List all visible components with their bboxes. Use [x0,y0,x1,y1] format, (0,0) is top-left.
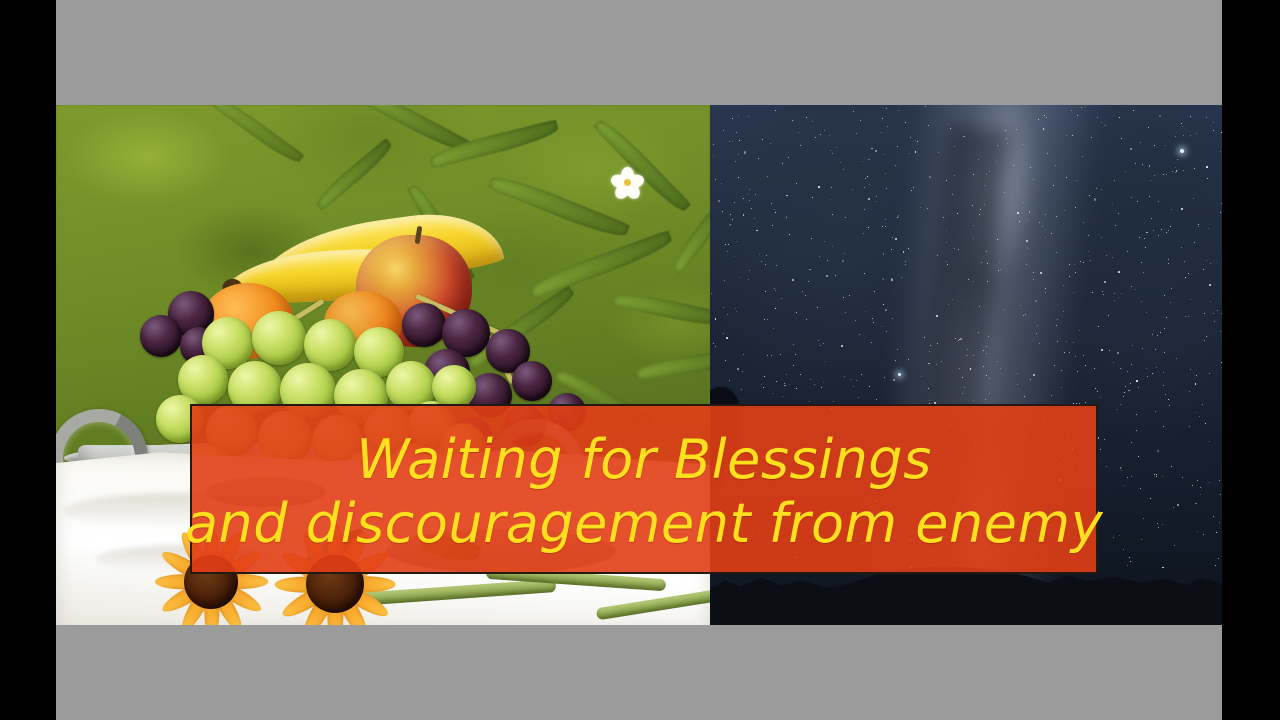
bright-star-icon [898,373,901,376]
bright-star-icon [1180,149,1184,153]
dark-grape-icon [402,303,446,347]
dark-grape-icon [512,361,552,401]
green-grape-icon [252,311,306,365]
video-frame: Waiting for Blessings and discouragement… [0,0,1280,720]
title-overlay-box: Waiting for Blessings and discouragement… [190,404,1098,574]
white-flower-icon [612,167,642,197]
letterbox-bar-left [0,0,56,720]
title-line-1: Waiting for Blessings [356,431,931,489]
dark-grape-icon [140,315,182,357]
letterbox-bar-right [1222,0,1280,720]
green-grape-icon [432,365,476,409]
title-line-2: and discouragement from enemy [185,495,1103,553]
